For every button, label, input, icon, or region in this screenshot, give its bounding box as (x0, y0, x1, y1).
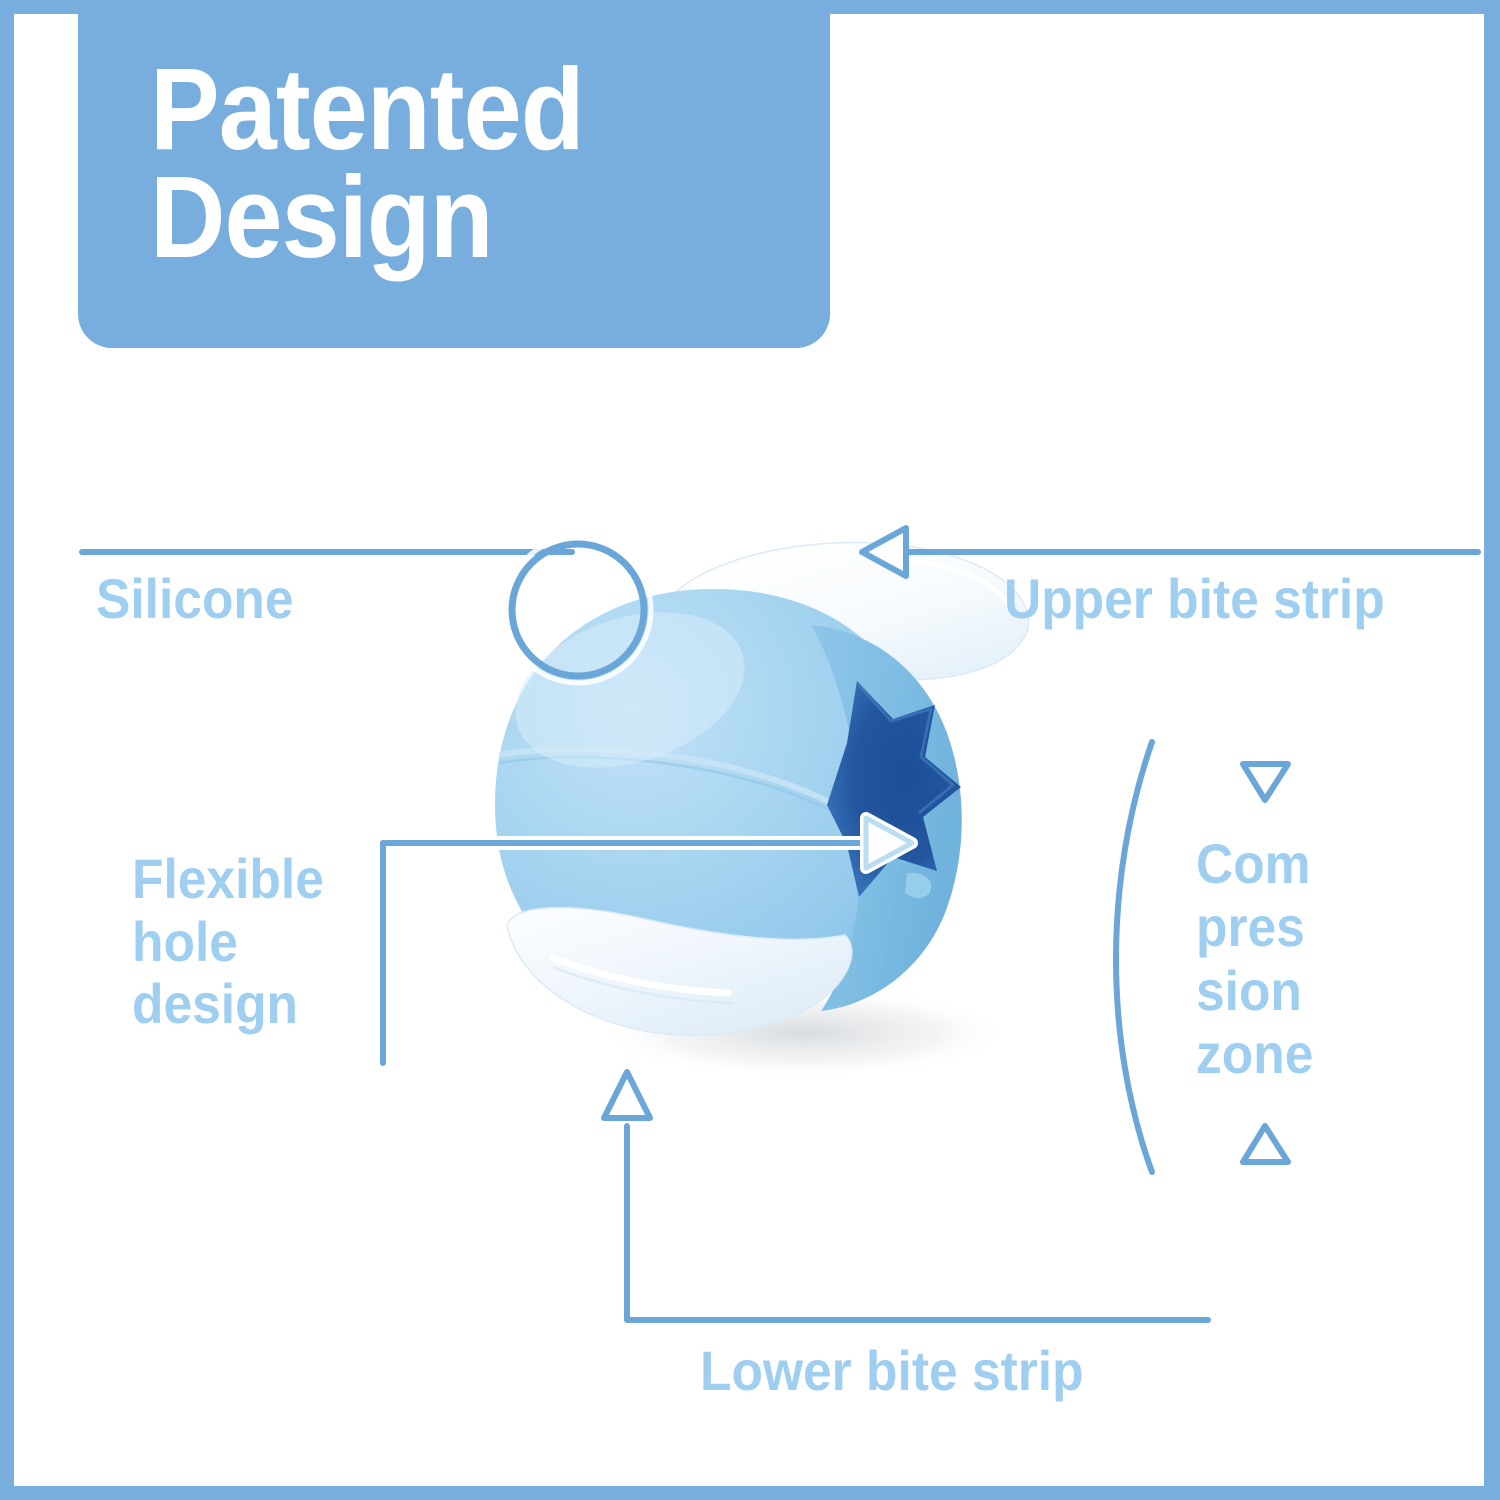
down-triangle-icon (1243, 764, 1288, 800)
callout-label-upper-bite-strip: Upper bite strip (1004, 566, 1385, 631)
frame-border-left (0, 0, 14, 1500)
callout-label-compression-zone: Com pres sion zone (1196, 832, 1313, 1085)
frame-border-top (0, 0, 1500, 14)
up-triangle-icon (1243, 1126, 1288, 1162)
callout-label-silicone: Silicone (96, 566, 294, 631)
callout-label-lower-bite-strip: Lower bite strip (700, 1338, 1084, 1403)
product-illustration (455, 505, 1055, 1105)
header-banner: Patented Design (78, 14, 830, 348)
infographic-page: Patented Design (0, 0, 1500, 1500)
page-title: Patented Design (150, 56, 584, 272)
callout-label-flexible-hole-design: Flexible hole design (132, 848, 324, 1036)
leader-lower-bite-strip (604, 1072, 1208, 1320)
compression-arc-bracket (1116, 742, 1152, 1172)
frame-border-bottom (0, 1486, 1500, 1500)
frame-border-right (1484, 0, 1500, 1500)
